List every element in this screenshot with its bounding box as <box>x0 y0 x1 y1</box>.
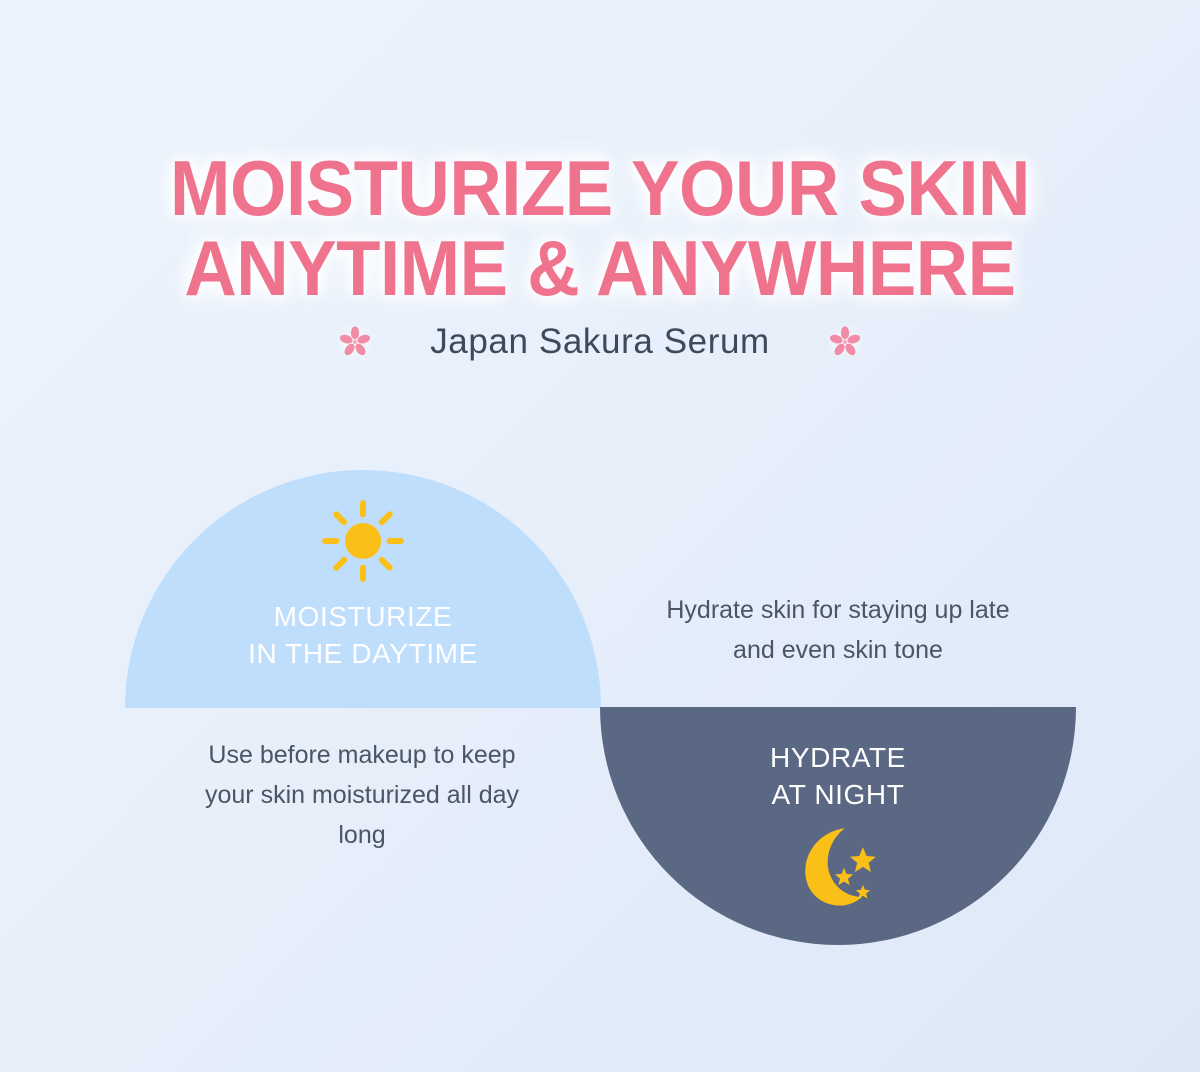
day-paragraph-line-1: Use before makeup to keep <box>122 735 602 775</box>
night-paragraph-line-1: Hydrate skin for staying up late <box>598 590 1078 630</box>
day-content: MOISTURIZE IN THE DAYTIME <box>125 498 601 672</box>
night-content: HYDRATE AT NIGHT <box>600 739 1076 909</box>
infographic-canvas: MOISTURIZE YOUR SKIN ANYTIME & ANYWHERE … <box>0 0 1200 1072</box>
venn-diagram: MOISTURIZE IN THE DAYTIME HYDRATE AT NIG… <box>0 0 1200 1072</box>
sun-icon <box>320 498 406 584</box>
day-caption-line-2: IN THE DAYTIME <box>125 635 601 672</box>
day-caption: MOISTURIZE IN THE DAYTIME <box>125 598 601 672</box>
night-paragraph-line-2: and even skin tone <box>598 630 1078 670</box>
night-caption-line-2: AT NIGHT <box>600 776 1076 813</box>
day-semicircle: MOISTURIZE IN THE DAYTIME <box>125 470 601 708</box>
night-caption-line-1: HYDRATE <box>600 739 1076 776</box>
day-paragraph-line-2: your skin moisturized all day <box>122 775 602 815</box>
night-semicircle: HYDRATE AT NIGHT <box>600 707 1076 945</box>
moon-stars-icon <box>792 823 884 909</box>
day-paragraph: Use before makeup to keep your skin mois… <box>122 735 602 855</box>
day-paragraph-line-3: long <box>122 815 602 855</box>
night-caption: HYDRATE AT NIGHT <box>600 739 1076 813</box>
night-paragraph: Hydrate skin for staying up late and eve… <box>598 590 1078 670</box>
day-caption-line-1: MOISTURIZE <box>125 598 601 635</box>
